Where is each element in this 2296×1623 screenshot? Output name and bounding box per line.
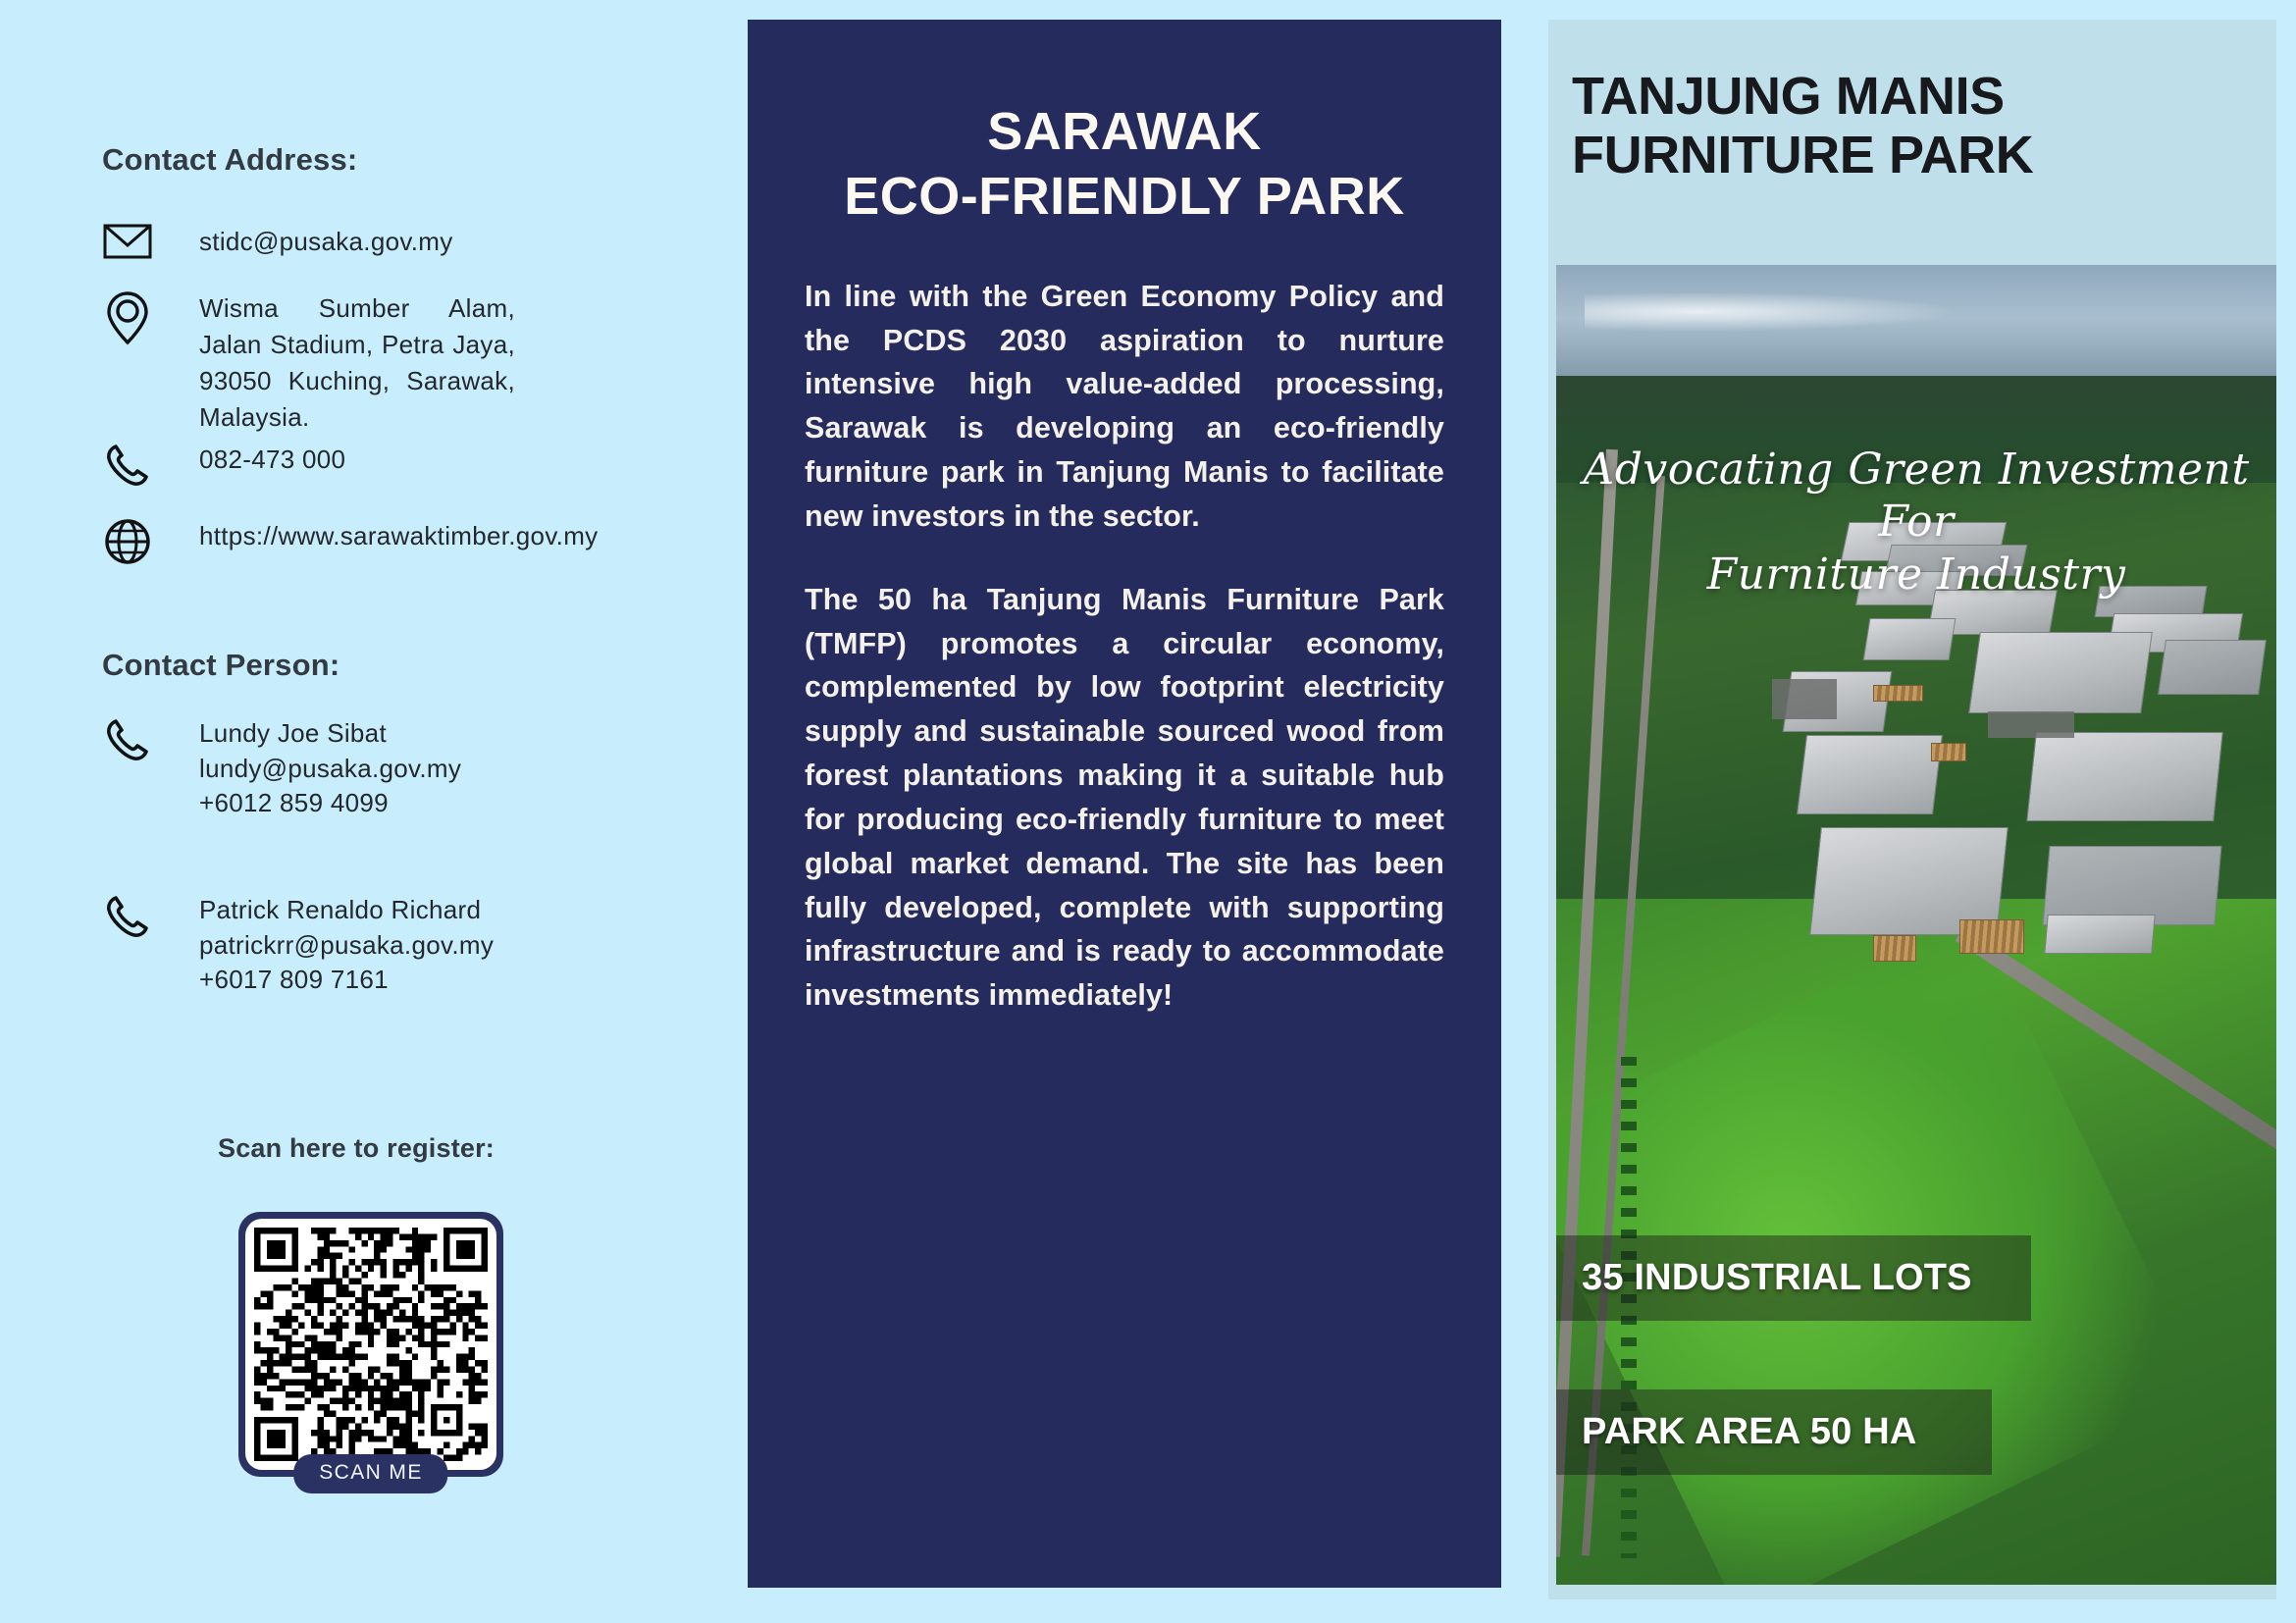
phone-value[interactable]: 082-473 000: [199, 442, 345, 478]
contact-row-phone: 082-473 000: [98, 442, 706, 489]
qr-code-block[interactable]: SCAN ME: [238, 1212, 503, 1477]
person-name: Lundy Joe Sibat: [199, 716, 461, 752]
scan-here-heading: Scan here to register:: [218, 1133, 495, 1164]
contact-address-heading: Contact Address:: [102, 142, 357, 178]
person-email[interactable]: patrickrr@pusaka.gov.my: [199, 928, 494, 964]
page-title: TANJUNG MANIS FURNITURE PARK: [1548, 20, 2276, 185]
contact-row-website: https://www.sarawaktimber.gov.my: [98, 518, 706, 565]
badge-park-area: PARK AREA 50 HA: [1556, 1389, 1992, 1475]
center-body: In line with the Green Economy Policy an…: [805, 275, 1444, 1018]
aerial-photo: Advocating Green Investment For Furnitur…: [1556, 265, 2276, 1585]
website-value[interactable]: https://www.sarawaktimber.gov.my: [199, 518, 598, 554]
photo-caption-line1: Advocating Green Investment For: [1574, 444, 2259, 549]
scan-me-badge: SCAN ME: [293, 1454, 447, 1493]
envelope-icon: [98, 224, 157, 259]
person-mobile[interactable]: +6012 859 4099: [199, 786, 461, 821]
phone-icon: [98, 716, 157, 763]
right-title-line1: TANJUNG MANIS: [1572, 67, 2005, 126]
right-panel: TANJUNG MANIS FURNITURE PARK: [1548, 20, 2276, 1599]
email-value[interactable]: stidc@pusaka.gov.my: [199, 224, 453, 260]
center-paragraph-1: In line with the Green Economy Policy an…: [805, 275, 1444, 539]
right-title-line2: FURNITURE PARK: [1572, 126, 2251, 184]
person-email[interactable]: lundy@pusaka.gov.my: [199, 752, 461, 787]
photo-caption-line2: Furniture Industry: [1574, 549, 2259, 602]
person-name: Patrick Renaldo Richard: [199, 893, 494, 928]
photo-caption: Advocating Green Investment For Furnitur…: [1556, 444, 2276, 602]
map-pin-icon: [98, 290, 157, 345]
phone-icon: [98, 442, 157, 489]
center-paragraph-2: The 50 ha Tanjung Manis Furniture Park (…: [805, 578, 1444, 1018]
person-mobile[interactable]: +6017 809 7161: [199, 963, 494, 998]
contact-row-address: Wisma Sumber Alam, Jalan Stadium, Petra …: [98, 290, 706, 436]
contact-panel: Contact Address: stidc@pusaka.gov.my Wis…: [0, 0, 748, 1623]
center-title-line1: SARAWAK: [987, 102, 1262, 161]
center-title-line2: ECO-FRIENDLY PARK: [805, 165, 1444, 230]
globe-icon: [98, 518, 157, 565]
contact-person-1: Lundy Joe Sibat lundy@pusaka.gov.my +601…: [98, 716, 726, 821]
brochure: Contact Address: stidc@pusaka.gov.my Wis…: [0, 0, 2296, 1623]
phone-icon: [98, 893, 157, 940]
center-panel: SARAWAK ECO-FRIENDLY PARK In line with t…: [748, 20, 1501, 1588]
contact-person-heading: Contact Person:: [102, 648, 339, 683]
center-title: SARAWAK ECO-FRIENDLY PARK: [805, 100, 1444, 230]
qr-inner: [245, 1219, 496, 1470]
contact-person-2: Patrick Renaldo Richard patrickrr@pusaka…: [98, 893, 726, 998]
address-value: Wisma Sumber Alam, Jalan Stadium, Petra …: [199, 290, 515, 436]
qr-code-image[interactable]: [254, 1228, 488, 1461]
badge-industrial-lots: 35 INDUSTRIAL LOTS: [1556, 1235, 2031, 1321]
contact-row-email: stidc@pusaka.gov.my: [98, 224, 706, 260]
